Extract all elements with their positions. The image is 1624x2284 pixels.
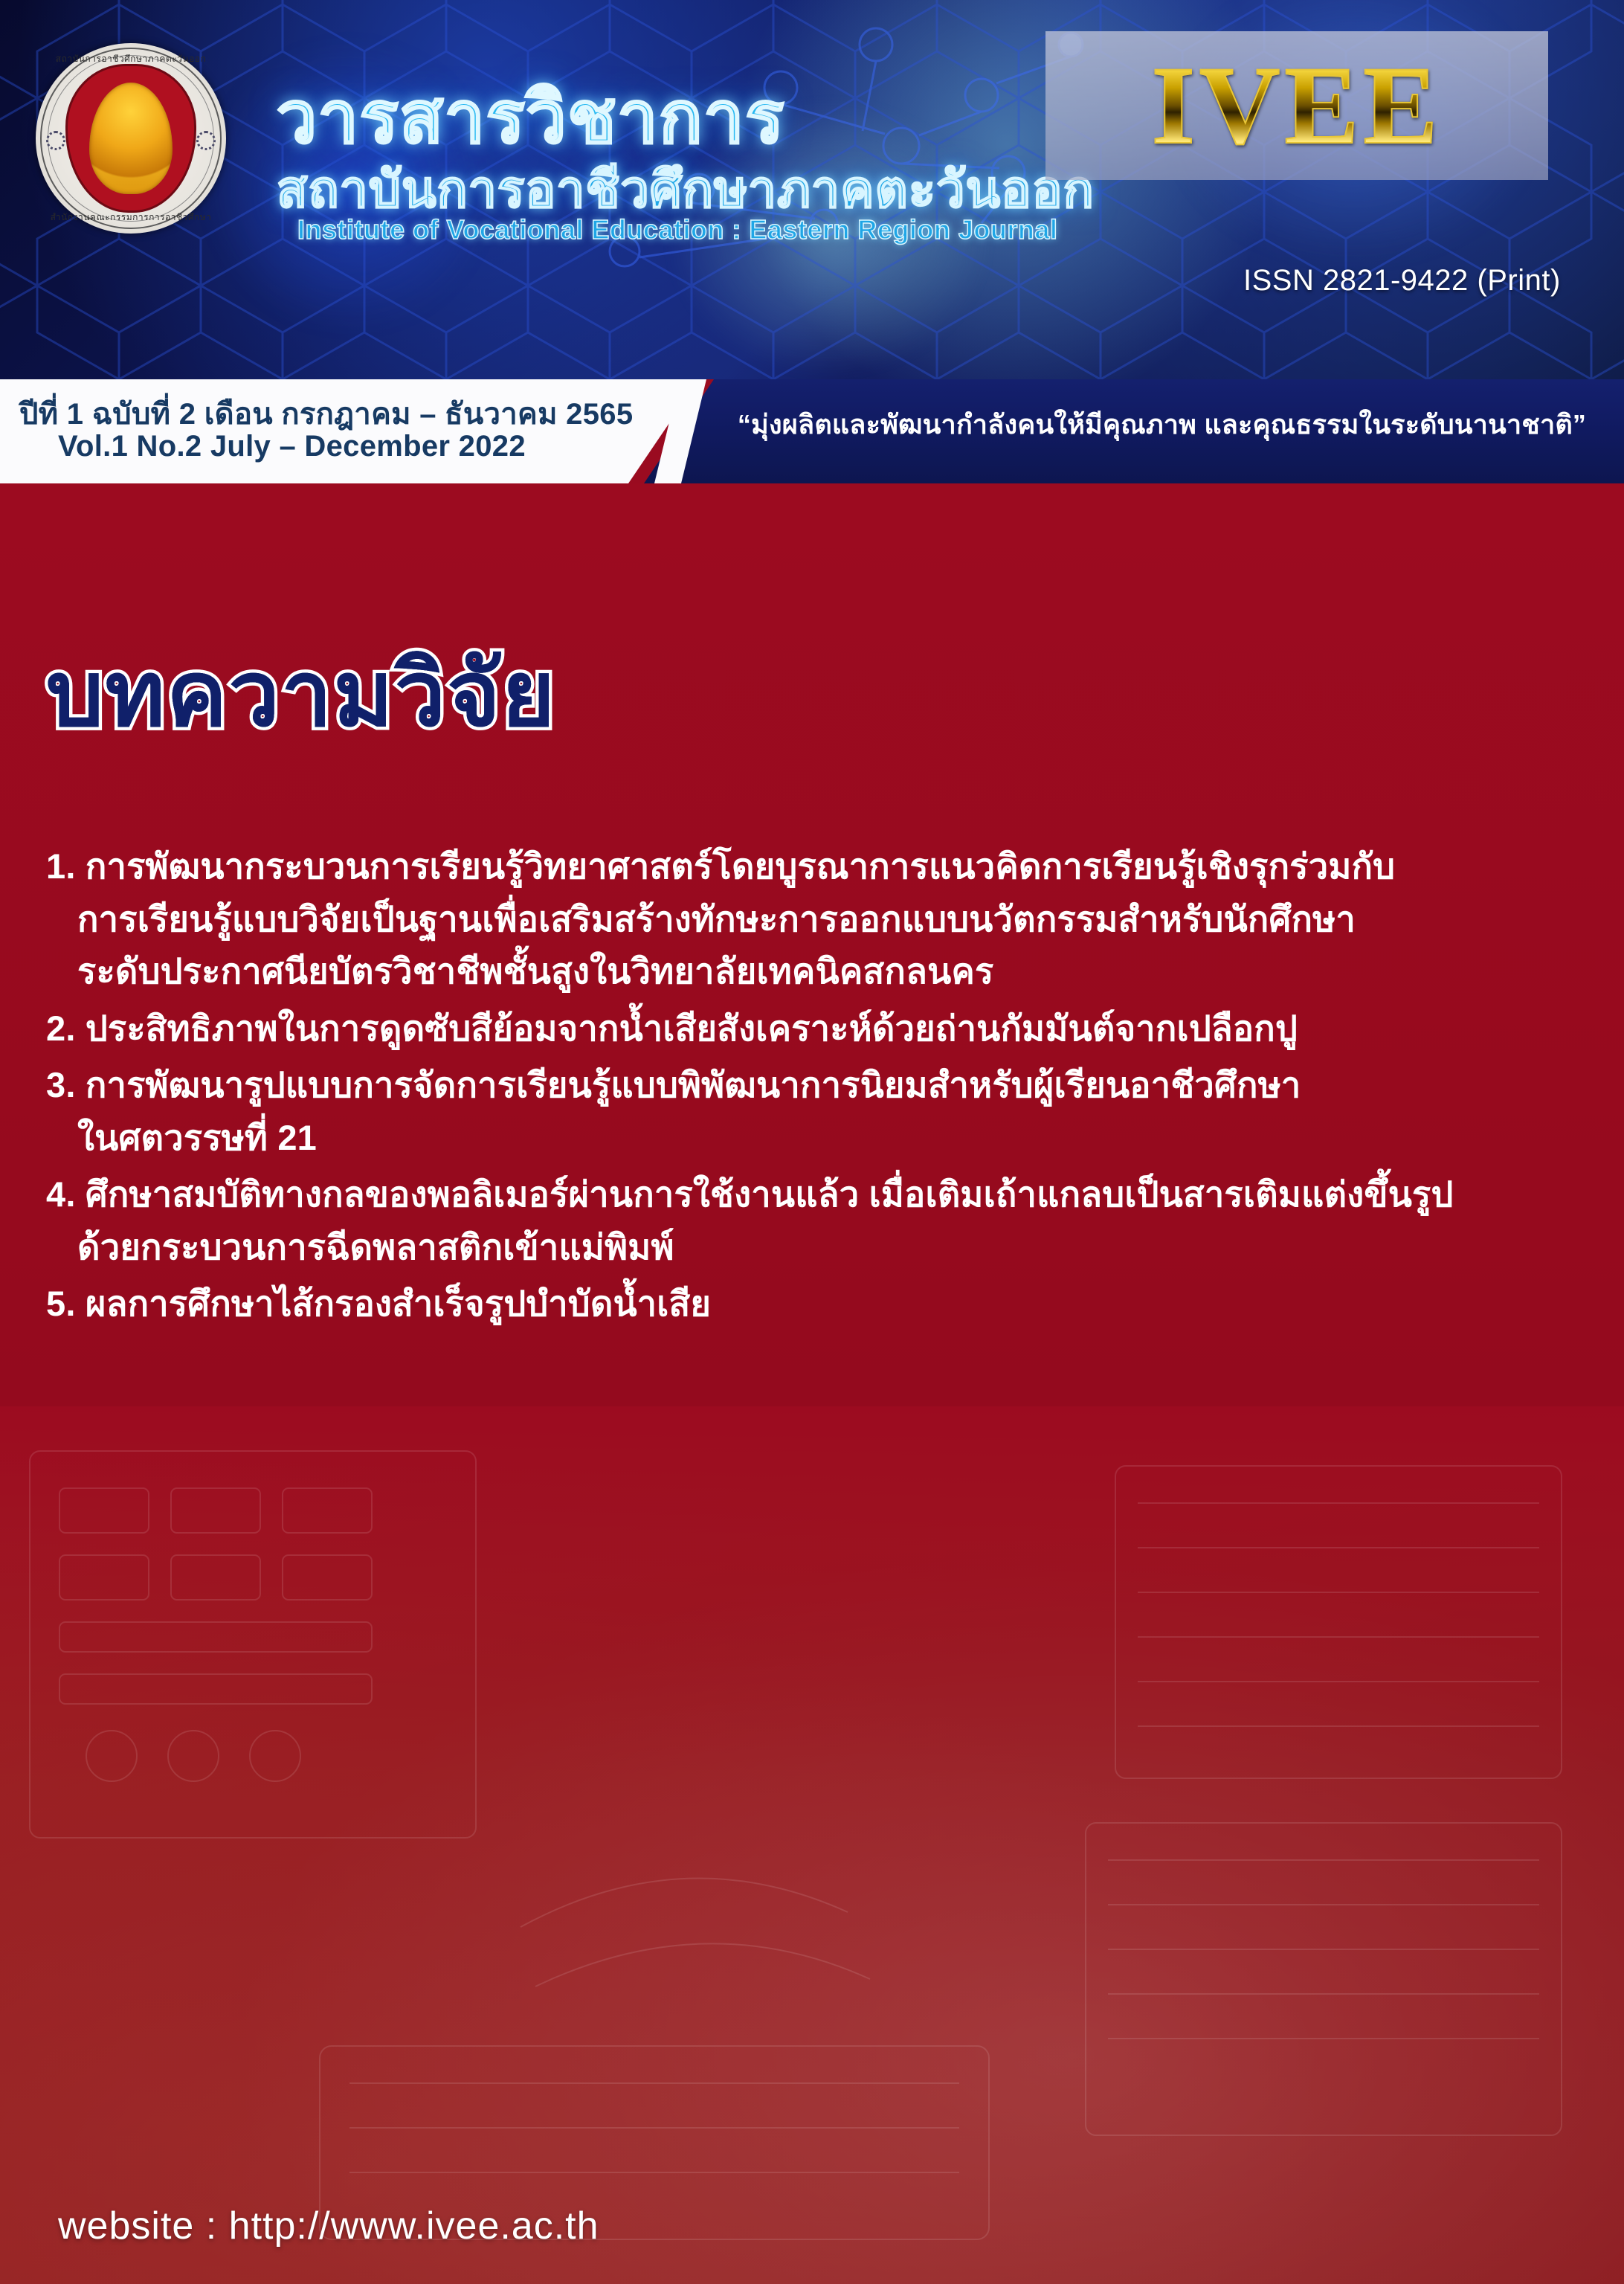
article-line: ด้วยกระบวนการฉีดพลาสติกเข้าแม่พิมพ์ [46, 1221, 1572, 1274]
article-line: ระดับประกาศนียบัตรวิชาชีพชั้นสูงในวิทยาล… [46, 945, 1572, 998]
section-heading-fill: บทความวิจัย [46, 621, 556, 765]
photo-grid-texture [0, 1406, 1624, 2284]
volume-issue-english: Vol.1 No.2 July – December 2022 [58, 430, 668, 463]
list-item[interactable]: 5. ผลการศึกษาไส้กรองสำเร็จรูปบำบัดน้ำเสี… [0, 1278, 1624, 1331]
article-line: การเรียนรู้แบบวิจัยเป็นฐานเพื่อเสริมสร้า… [46, 893, 1572, 946]
cog-icon-left [46, 131, 65, 150]
list-item[interactable]: 2. ประสิทธิภาพในการดูดซับสีย้อมจากน้ำเสี… [0, 1003, 1624, 1055]
article-line: 1. การพัฒนากระบวนการเรียนรู้วิทยาศาสตร์โ… [46, 840, 1572, 893]
article-line: 5. ผลการศึกษาไส้กรองสำเร็จรูปบำบัดน้ำเสี… [46, 1278, 1572, 1331]
journal-title-english: Institute of Vocational Education : East… [297, 214, 1057, 245]
journal-cover-page: สถาบันการอาชีวศึกษาภาคตะวันออก สำนักงานค… [0, 0, 1624, 2284]
background-photo-overlay [0, 1406, 1624, 2284]
cog-icon-right [196, 131, 216, 150]
list-item[interactable]: 3. การพัฒนารูปแบบการจัดการเรียนรู้แบบพิพ… [0, 1059, 1624, 1164]
cover-main-body: บทความวิจัย บทความวิจัย 1. การพัฒนากระบว… [0, 483, 1624, 2284]
website-url[interactable]: website : http://www.ivee.ac.th [58, 2204, 599, 2248]
issn-number: ISSN 2821-9422 (Print) [1243, 264, 1561, 297]
list-item[interactable]: 1. การพัฒนากระบวนการเรียนรู้วิทยาศาสตร์โ… [0, 840, 1624, 998]
article-line: 3. การพัฒนารูปแบบการจัดการเรียนรู้แบบพิพ… [46, 1059, 1572, 1112]
article-list: 1. การพัฒนากระบวนการเรียนรู้วิทยาศาสตร์โ… [0, 840, 1624, 1335]
article-line: 2. ประสิทธิภาพในการดูดซับสีย้อมจากน้ำเสี… [46, 1003, 1572, 1055]
list-item[interactable]: 4. ศึกษาสมบัติทางกลของพอลิเมอร์ผ่านการใช… [0, 1168, 1624, 1273]
ivee-logo-plaque: IVEE [1045, 31, 1548, 180]
institute-seal-logo: สถาบันการอาชีวศึกษาภาคตะวันออก สำนักงานค… [36, 43, 226, 234]
seal-emblem-icon [89, 83, 173, 194]
cover-header: สถาบันการอาชีวศึกษาภาคตะวันออก สำนักงานค… [0, 0, 1624, 379]
ivee-logo-text: IVEE [1152, 50, 1443, 161]
article-line: 4. ศึกษาสมบัติทางกลของพอลิเมอร์ผ่านการใช… [46, 1168, 1572, 1221]
institute-motto: “มุ่งผลิตและพัฒนากำลังคนให้มีคุณภาพ และค… [710, 403, 1614, 445]
article-line: ในศตวรรษที่ 21 [46, 1112, 1572, 1165]
volume-info-bar: ปีที่ 1 ฉบับที่ 2 เดือน กรกฎาคม – ธันวาค… [0, 379, 1624, 483]
